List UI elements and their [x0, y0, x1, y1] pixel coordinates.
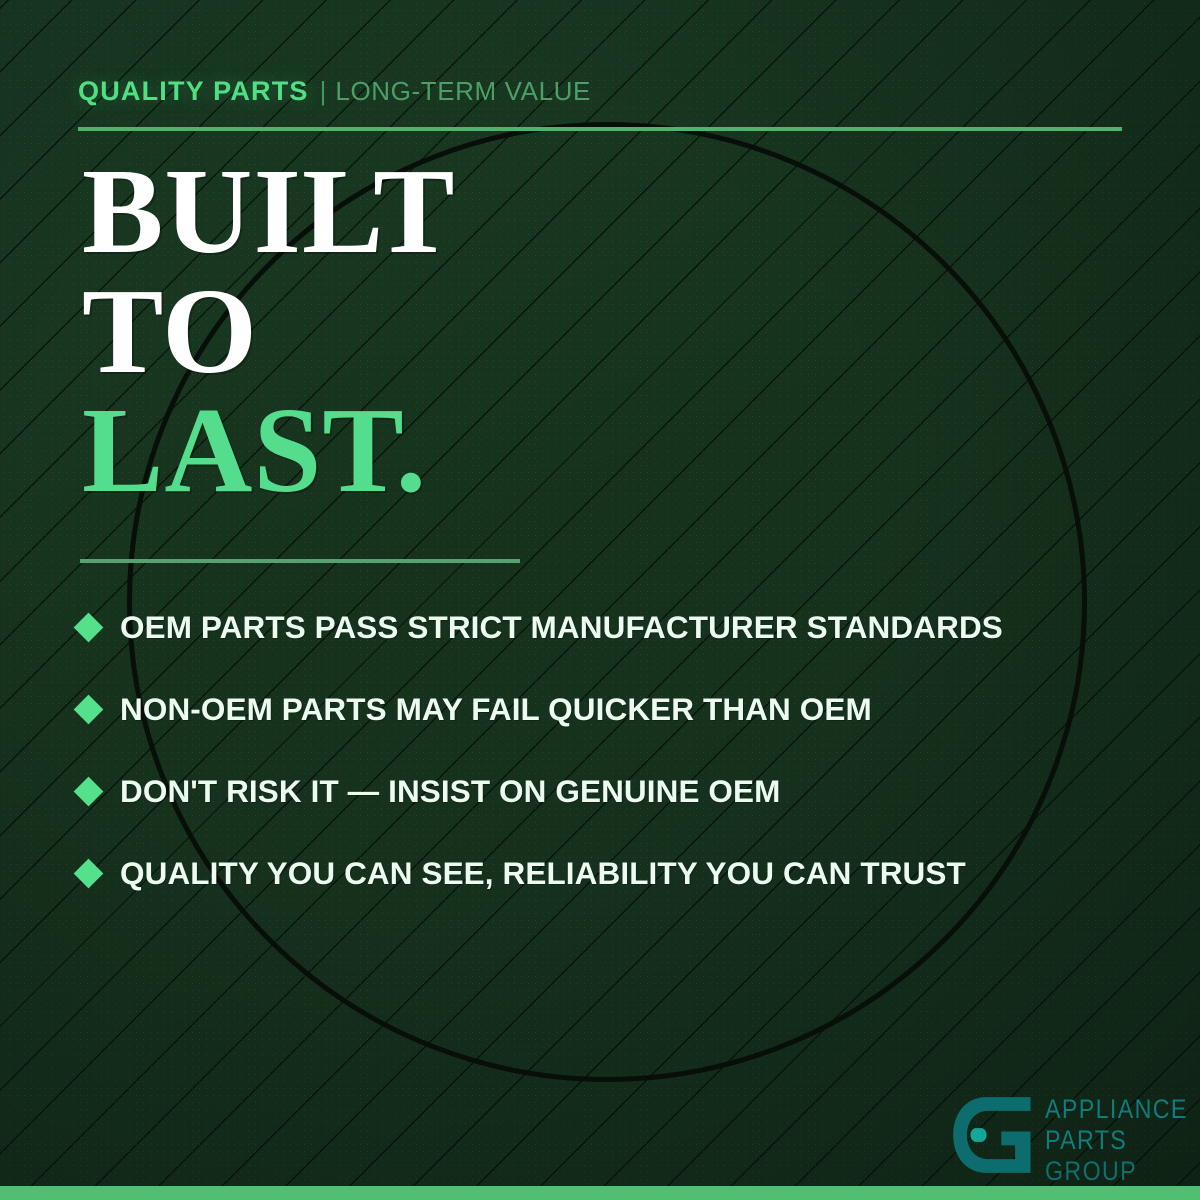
headline-line-3-accent: LAST. [82, 391, 456, 511]
list-item-label: NON-OEM PARTS MAY FAIL QUICKER THAN OEM [120, 691, 872, 728]
promo-poster: QUALITY PARTS | LONG-TERM VALUE BUILT TO… [0, 0, 1200, 1200]
list-item-label: QUALITY YOU CAN SEE, RELIABILITY YOU CAN… [120, 855, 966, 892]
eyebrow: QUALITY PARTS | LONG-TERM VALUE [78, 76, 591, 107]
list-item-label: OEM PARTS PASS STRICT MANUFACTURER STAND… [120, 609, 1003, 646]
page-title: BUILT TO LAST. [82, 152, 456, 511]
diamond-bullet-icon [74, 776, 104, 806]
poster-content: QUALITY PARTS | LONG-TERM VALUE BUILT TO… [0, 0, 1200, 1200]
diamond-bullet-icon [74, 694, 104, 724]
headline-divider [80, 559, 520, 563]
g-monogram-icon [948, 1092, 1034, 1178]
list-item: DON'T RISK IT — INSIST ON GENUINE OEM [78, 750, 1148, 832]
list-item: NON-OEM PARTS MAY FAIL QUICKER THAN OEM [78, 668, 1148, 750]
footer-accent-bar [0, 1186, 1200, 1200]
brand-logo: APPLIANCE PARTS GROUP [948, 1092, 1200, 1187]
brand-wordmark: APPLIANCE PARTS GROUP [1045, 1092, 1200, 1187]
eyebrow-sub-label: LONG-TERM VALUE [335, 76, 591, 107]
headline-line-1: BUILT [82, 152, 456, 272]
eyebrow-main-label: QUALITY PARTS [78, 76, 309, 107]
diamond-bullet-icon [74, 612, 104, 642]
eyebrow-separator: | [320, 76, 327, 107]
list-item: OEM PARTS PASS STRICT MANUFACTURER STAND… [78, 586, 1148, 668]
headline-line-2: TO [82, 272, 456, 392]
header-divider [78, 127, 1122, 131]
benefit-list: OEM PARTS PASS STRICT MANUFACTURER STAND… [78, 586, 1148, 914]
diamond-bullet-icon [74, 858, 104, 888]
list-item-label: DON'T RISK IT — INSIST ON GENUINE OEM [120, 773, 780, 810]
brand-word-line-2: PARTS [1045, 1125, 1188, 1156]
brand-word-line-3: GROUP [1045, 1156, 1188, 1187]
brand-word-line-1: APPLIANCE [1045, 1094, 1188, 1125]
list-item: QUALITY YOU CAN SEE, RELIABILITY YOU CAN… [78, 832, 1148, 914]
